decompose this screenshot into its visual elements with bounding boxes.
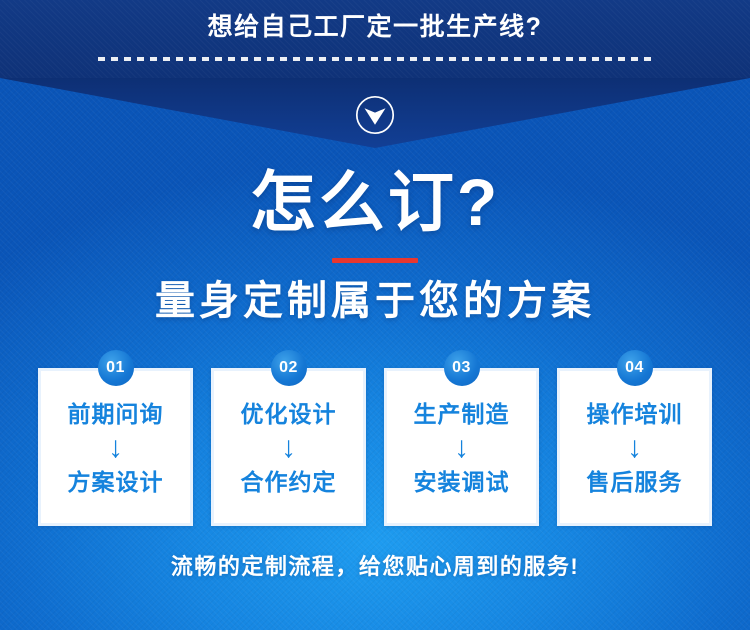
page-subtitle: 量身定制属于您的方案 <box>0 277 750 325</box>
step-card-03[interactable]: 03 生产制造 ↓ 安装调试 <box>384 368 539 526</box>
step-stage-to: 合作约定 <box>241 467 337 497</box>
arrow-down-icon: ↓ <box>281 431 296 465</box>
footer-tagline: 流畅的定制流程，给您贴心周到的服务! <box>0 553 750 581</box>
chevron-band-right <box>375 78 750 148</box>
step-card-list: 01 前期问询 ↓ 方案设计 02 优化设计 ↓ 合作约定 03 生产制造 ↓ … <box>38 368 712 526</box>
step-card-02[interactable]: 02 优化设计 ↓ 合作约定 <box>211 368 366 526</box>
step-card-01[interactable]: 01 前期问询 ↓ 方案设计 <box>38 368 193 526</box>
chevron-band-left <box>0 78 375 148</box>
step-stage-from: 前期问询 <box>68 399 164 429</box>
step-stage-from: 操作培训 <box>587 399 683 429</box>
top-banner: 想给自己工厂定一批生产线? <box>0 0 750 78</box>
page-title: 怎么订? <box>0 163 750 241</box>
step-stage-to: 安装调试 <box>414 467 510 497</box>
step-number-badge: 01 <box>98 350 134 386</box>
step-stage-to: 售后服务 <box>587 467 683 497</box>
step-number-badge: 02 <box>271 350 307 386</box>
step-card-04[interactable]: 04 操作培训 ↓ 售后服务 <box>557 368 712 526</box>
arrow-down-icon: ↓ <box>454 431 469 465</box>
arrow-down-icon: ↓ <box>108 431 123 465</box>
title-underline <box>332 258 418 263</box>
banner-question-text: 想给自己工厂定一批生产线? <box>0 12 750 42</box>
step-stage-to: 方案设计 <box>68 467 164 497</box>
step-stage-from: 优化设计 <box>241 399 337 429</box>
step-stage-from: 生产制造 <box>414 399 510 429</box>
promo-banner-graphic: 想给自己工厂定一批生产线? 怎么订? 量身定制属于您的方案 01 前期问询 ↓ … <box>0 0 750 630</box>
dashed-divider <box>98 57 652 61</box>
chevron-down-circle-icon <box>355 95 395 135</box>
step-number-badge: 04 <box>617 350 653 386</box>
step-number-badge: 03 <box>444 350 480 386</box>
arrow-down-icon: ↓ <box>627 431 642 465</box>
